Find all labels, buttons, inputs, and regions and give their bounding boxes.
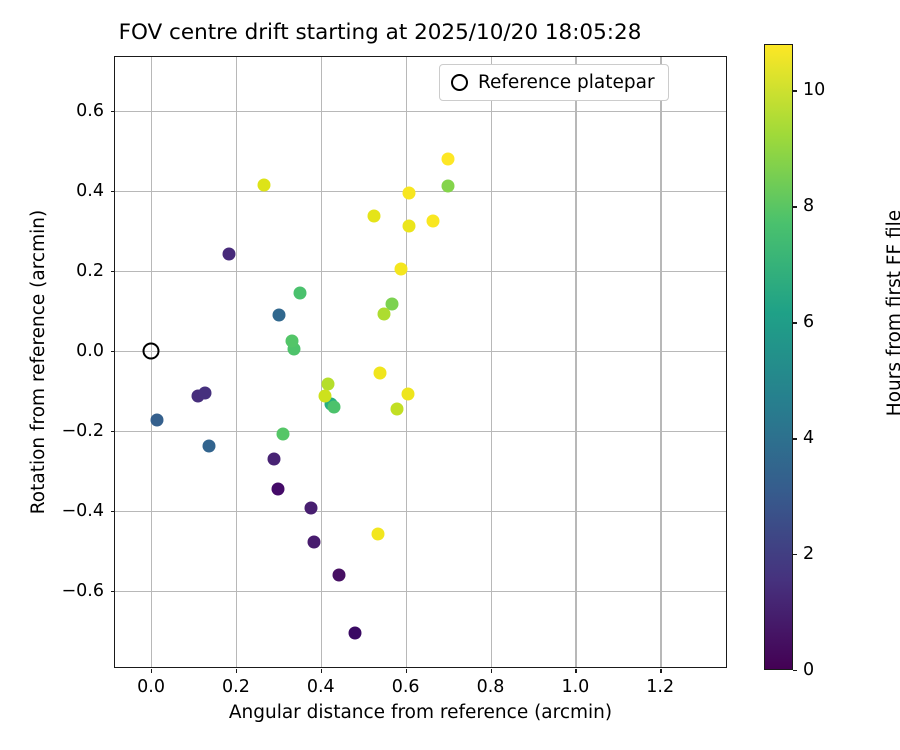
scatter-point: [401, 388, 414, 401]
scatter-point: [403, 220, 416, 233]
plot-area: [115, 57, 726, 667]
x-tick-label: 0.2: [222, 677, 250, 697]
reference-platepar-marker: [143, 343, 160, 360]
x-tick-label: 0.8: [477, 677, 505, 697]
scatter-point: [203, 440, 216, 453]
x-gridline: [406, 57, 407, 667]
y-tick-mark: [111, 591, 115, 592]
scatter-point: [273, 309, 286, 322]
scatter-point: [267, 453, 280, 466]
scatter-point: [286, 335, 299, 348]
scatter-point: [198, 387, 211, 400]
y-tick-label: 0.0: [76, 341, 104, 361]
reference-platepar-icon: [451, 74, 468, 91]
y-gridline: [115, 431, 726, 432]
colorbar-tick-mark: [793, 670, 797, 671]
colorbar-tick-label: 2: [803, 544, 814, 564]
scatter-point: [374, 367, 387, 380]
x-gridline: [321, 57, 322, 667]
colorbar-tick-label: 8: [803, 196, 814, 216]
x-tick-mark: [236, 669, 237, 673]
scatter-point: [257, 179, 270, 192]
scatter-point: [327, 401, 340, 414]
y-gridline: [115, 111, 726, 112]
x-tick-mark: [406, 669, 407, 673]
colorbar-tick-mark: [793, 438, 797, 439]
x-tick-mark: [660, 669, 661, 673]
figure-canvas: FOV centre drift starting at 2025/10/20 …: [0, 0, 900, 750]
y-tick-mark: [111, 271, 115, 272]
scatter-point: [307, 536, 320, 549]
colorbar-tick-mark: [793, 206, 797, 207]
scatter-point: [426, 214, 439, 227]
scatter-point: [367, 209, 380, 222]
y-gridline: [115, 191, 726, 192]
scatter-point: [222, 247, 235, 260]
colorbar-tick-mark: [793, 90, 797, 91]
scatter-point: [277, 428, 290, 441]
x-gridline: [151, 57, 152, 667]
y-tick-mark: [111, 431, 115, 432]
colorbar-tick-label: 0: [803, 660, 814, 680]
scatter-point: [272, 483, 285, 496]
legend: Reference platepar: [439, 64, 669, 101]
colorbar-gradient: [764, 44, 793, 670]
x-gridline: [491, 57, 492, 667]
scatter-point: [378, 308, 391, 321]
y-tick-mark: [111, 191, 115, 192]
colorbar-tick-label: 10: [803, 80, 825, 100]
x-gridline: [575, 57, 576, 667]
chart-title: FOV centre drift starting at 2025/10/20 …: [0, 20, 760, 45]
colorbar-tick-mark: [793, 322, 797, 323]
y-tick-label: −0.4: [62, 501, 105, 521]
x-tick-label: 0.6: [392, 677, 420, 697]
scatter-point: [151, 414, 164, 427]
x-tick-label: 1.2: [646, 677, 674, 697]
scatter-point: [293, 287, 306, 300]
legend-entry-label: Reference platepar: [478, 72, 655, 93]
colorbar-tick-label: 4: [803, 428, 814, 448]
scatter-point: [305, 502, 318, 515]
colorbar-tick-mark: [793, 554, 797, 555]
scatter-point: [348, 627, 361, 640]
x-axis-label: Angular distance from reference (arcmin): [114, 702, 727, 723]
colorbar-label: Hours from first FF file: [884, 0, 900, 626]
scatter-point: [395, 263, 408, 276]
x-tick-mark: [575, 669, 576, 673]
scatter-point: [442, 180, 455, 193]
scatter-point: [333, 569, 346, 582]
scatter-point: [372, 527, 385, 540]
y-tick-label: 0.4: [76, 181, 104, 201]
scatter-point: [442, 152, 455, 165]
y-tick-label: 0.6: [76, 101, 104, 121]
plot-axes: 0.00.20.40.60.81.01.2−0.6−0.4−0.20.00.20…: [114, 56, 727, 668]
y-tick-mark: [111, 111, 115, 112]
y-tick-label: 0.2: [76, 261, 104, 281]
x-tick-label: 0.4: [307, 677, 335, 697]
y-gridline: [115, 351, 726, 352]
y-tick-mark: [111, 351, 115, 352]
y-gridline: [115, 271, 726, 272]
x-tick-label: 1.0: [561, 677, 589, 697]
x-tick-mark: [491, 669, 492, 673]
scatter-point: [391, 403, 404, 416]
scatter-point: [403, 186, 416, 199]
x-tick-mark: [151, 669, 152, 673]
x-tick-label: 0.0: [137, 677, 165, 697]
x-gridline: [236, 57, 237, 667]
x-tick-mark: [321, 669, 322, 673]
y-tick-label: −0.6: [62, 581, 105, 601]
colorbar: 0246810: [764, 44, 793, 670]
colorbar-tick-label: 6: [803, 312, 814, 332]
scatter-point: [319, 390, 332, 403]
y-gridline: [115, 591, 726, 592]
y-gridline: [115, 511, 726, 512]
y-axis-label: Rotation from reference (arcmin): [28, 56, 49, 668]
y-tick-label: −0.2: [62, 421, 105, 441]
y-tick-mark: [111, 511, 115, 512]
x-gridline: [660, 57, 661, 667]
